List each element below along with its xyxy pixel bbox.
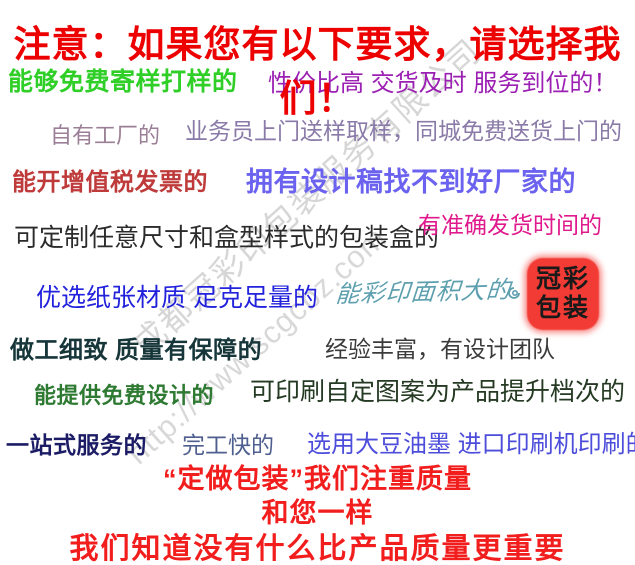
feature-vat-invoice: 能开增值税发票的 bbox=[12, 162, 208, 197]
feature-own-factory: 自有工厂的 bbox=[50, 118, 160, 150]
feature-has-design-no-mfr: 拥有设计稿找不到好厂家的 bbox=[246, 160, 576, 199]
footer-block: “定做包装”我们注重质量 和您一样 我们知道没有什么比产品质量更重要 bbox=[0, 462, 635, 565]
feature-soy-ink-press: 选用大豆油墨 进口印刷机印刷的 bbox=[307, 424, 635, 459]
feature-free-design: 能提供免费设计的 bbox=[34, 378, 214, 410]
seal-text: 冠彩 包装 bbox=[527, 258, 599, 330]
footer-line-3: 我们知道没有什么比产品质量更重要 bbox=[0, 530, 635, 565]
feature-custom-print: 可印刷自定图案为产品提升档次的 bbox=[250, 372, 625, 408]
company-seal: 冠彩 包装 bbox=[527, 258, 599, 330]
seal-line-2: 包装 bbox=[536, 294, 590, 323]
feature-one-stop-service: 一站式服务的 bbox=[6, 426, 147, 460]
footer-line-2: 和您一样 bbox=[0, 496, 635, 530]
swirl-icon bbox=[506, 285, 522, 301]
handwritten-slogan: 能彩印面积大的 bbox=[334, 270, 512, 310]
feature-fine-workmanship: 做工细致 质量有保障的 bbox=[10, 330, 262, 365]
promo-poster: 成都冠彩印包装服务有限公司 http://www.scgcbz.com 注意：如… bbox=[0, 0, 635, 565]
feature-accurate-ship-time: 有准确发货时间的 bbox=[418, 206, 602, 240]
feature-experienced-team: 经验丰富，有设计团队 bbox=[325, 330, 555, 364]
footer-line-1: “定做包装”我们注重质量 bbox=[0, 462, 635, 496]
headline-text: 注意：如果您有以下要求，请选择我们！ bbox=[0, 14, 635, 122]
seal-line-1: 冠彩 bbox=[536, 265, 590, 294]
feature-custom-size-box: 可定制任意尺寸和盒型样式的包装盒的 bbox=[14, 218, 439, 254]
feature-fast-completion: 完工快的 bbox=[182, 426, 274, 460]
feature-quality-paper: 优选纸张材质 足克足量的 bbox=[36, 278, 318, 314]
